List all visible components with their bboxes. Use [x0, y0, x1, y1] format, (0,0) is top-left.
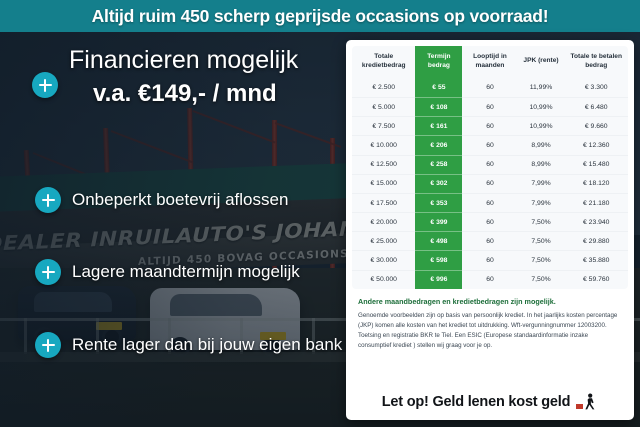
cell-duration: 60 [462, 155, 517, 174]
cell-total-credit: € 5.000 [352, 97, 415, 116]
headline-text: Altijd ruim 450 scherp geprijsde occasio… [92, 6, 549, 27]
cell-installment: € 206 [415, 136, 462, 155]
cell-total-payable: € 59.760 [564, 270, 628, 289]
cell-installment: € 55 [415, 79, 462, 98]
feature-label: Lagere maandtermijn mogelijk [72, 262, 300, 282]
cell-apr: 7,50% [518, 213, 565, 232]
cell-total-credit: € 30.000 [352, 251, 415, 270]
column-header-total-credit: Totale kredietbedrag [352, 46, 415, 79]
plus-icon [35, 187, 61, 213]
credit-warning-text: Let op! Geld lenen kost geld [382, 394, 571, 410]
cell-apr: 10,99% [518, 117, 565, 136]
cell-total-credit: € 17.500 [352, 193, 415, 212]
plus-icon [35, 332, 61, 358]
column-header-installment: Termijn bedrag [415, 46, 462, 79]
plus-icon [32, 72, 58, 98]
cell-duration: 60 [462, 251, 517, 270]
feature-item-financing: Financieren mogelijk v.a. €149,- / mnd [32, 46, 298, 108]
table-row: € 15.000€ 302607,99%€ 18.120 [352, 174, 628, 193]
cell-duration: 60 [462, 213, 517, 232]
cell-total-payable: € 35.880 [564, 251, 628, 270]
table-row: € 25.000€ 498607,50%€ 29.880 [352, 232, 628, 251]
cell-total-credit: € 15.000 [352, 174, 415, 193]
cell-installment: € 161 [415, 117, 462, 136]
table-body: € 2.500€ 556011,99%€ 3.300€ 5.000€ 10860… [352, 79, 628, 289]
cell-total-credit: € 10.000 [352, 136, 415, 155]
cell-apr: 7,50% [518, 270, 565, 289]
plus-icon [35, 259, 61, 285]
cell-apr: 8,99% [518, 155, 565, 174]
table-row: € 5.000€ 1086010,99%€ 6.480 [352, 97, 628, 116]
feature-label: Onbeperkt boetevrij aflossen [72, 190, 288, 210]
rate-table-shell: Totale kredietbedrag Termijn bedrag Loop… [352, 46, 628, 289]
feature-item-early-repayment: Onbeperkt boetevrij aflossen [35, 187, 288, 213]
cell-total-credit: € 12.500 [352, 155, 415, 174]
cell-apr: 7,50% [518, 232, 565, 251]
cell-duration: 60 [462, 97, 517, 116]
table-row: € 10.000€ 206608,99%€ 12.360 [352, 136, 628, 155]
feature-label: Rente lager dan bij jouw eigen bank [72, 335, 342, 355]
cell-apr: 10,99% [518, 97, 565, 116]
feature-hero-line2: v.a. €149,- / mnd [69, 80, 298, 108]
table-row: € 12.500€ 258608,99%€ 15.480 [352, 155, 628, 174]
advertisement-banner: DEALER INRUILAUTO'S JOHAN MEURE ALTIJD 4… [0, 0, 640, 427]
walking-man-icon [576, 393, 598, 410]
financing-card: Totale kredietbedrag Termijn bedrag Loop… [346, 40, 634, 420]
cell-installment: € 302 [415, 174, 462, 193]
cell-total-payable: € 9.660 [564, 117, 628, 136]
cell-total-payable: € 23.940 [564, 213, 628, 232]
disclaimer-heading: Andere maandbedragen en kredietbedragen … [358, 297, 622, 306]
cell-total-payable: € 15.480 [564, 155, 628, 174]
cell-duration: 60 [462, 136, 517, 155]
cell-installment: € 399 [415, 213, 462, 232]
table-row: € 50.000€ 996607,50%€ 59.760 [352, 270, 628, 289]
feature-item-lower-installment: Lagere maandtermijn mogelijk [35, 259, 300, 285]
rate-table-wrapper: Totale kredietbedrag Termijn bedrag Loop… [346, 40, 634, 289]
cell-total-credit: € 50.000 [352, 270, 415, 289]
cell-duration: 60 [462, 232, 517, 251]
cell-total-payable: € 6.480 [564, 97, 628, 116]
table-row: € 2.500€ 556011,99%€ 3.300 [352, 79, 628, 98]
cell-total-credit: € 7.500 [352, 117, 415, 136]
cell-total-payable: € 12.360 [564, 136, 628, 155]
cell-apr: 7,50% [518, 251, 565, 270]
cell-duration: 60 [462, 193, 517, 212]
table-row: € 17.500€ 353607,99%€ 21.180 [352, 193, 628, 212]
credit-warning: Let op! Geld lenen kost geld [346, 387, 634, 420]
cell-apr: 11,99% [518, 79, 565, 98]
financing-rate-table: Totale kredietbedrag Termijn bedrag Loop… [352, 46, 628, 289]
cell-duration: 60 [462, 270, 517, 289]
cell-installment: € 353 [415, 193, 462, 212]
column-header-duration: Looptijd in maanden [462, 46, 517, 79]
cell-total-payable: € 3.300 [564, 79, 628, 98]
cell-duration: 60 [462, 117, 517, 136]
cell-apr: 7,99% [518, 193, 565, 212]
table-header-row: Totale kredietbedrag Termijn bedrag Loop… [352, 46, 628, 79]
table-row: € 30.000€ 598607,50%€ 35.880 [352, 251, 628, 270]
cell-installment: € 498 [415, 232, 462, 251]
cell-duration: 60 [462, 79, 517, 98]
feature-hero-line1: Financieren mogelijk [69, 46, 298, 76]
disclaimer-section: Andere maandbedragen en kredietbedragen … [346, 289, 634, 352]
cell-installment: € 108 [415, 97, 462, 116]
cell-installment: € 996 [415, 270, 462, 289]
cell-apr: 7,99% [518, 174, 565, 193]
cell-duration: 60 [462, 174, 517, 193]
cell-total-payable: € 21.180 [564, 193, 628, 212]
column-header-total-payable: Totale te betalen bedrag [564, 46, 628, 79]
feature-list: Financieren mogelijk v.a. €149,- / mnd O… [0, 32, 345, 427]
cell-total-credit: € 20.000 [352, 213, 415, 232]
table-header: Totale kredietbedrag Termijn bedrag Loop… [352, 46, 628, 79]
headline-banner: Altijd ruim 450 scherp geprijsde occasio… [0, 0, 640, 32]
cell-total-payable: € 29.880 [564, 232, 628, 251]
table-row: € 20.000€ 399607,50%€ 23.940 [352, 213, 628, 232]
column-header-apr: JPK (rente) [518, 46, 565, 79]
cell-apr: 8,99% [518, 136, 565, 155]
cell-installment: € 258 [415, 155, 462, 174]
cell-total-credit: € 2.500 [352, 79, 415, 98]
cell-installment: € 598 [415, 251, 462, 270]
feature-hero-text: Financieren mogelijk v.a. €149,- / mnd [69, 46, 298, 108]
walking-man-box [576, 404, 583, 409]
cell-total-credit: € 25.000 [352, 232, 415, 251]
feature-item-lower-interest: Rente lager dan bij jouw eigen bank [35, 332, 342, 358]
disclaimer-body: Genoemde voorbeelden zijn op basis van p… [358, 311, 622, 351]
table-row: € 7.500€ 1616010,99%€ 9.660 [352, 117, 628, 136]
cell-total-payable: € 18.120 [564, 174, 628, 193]
